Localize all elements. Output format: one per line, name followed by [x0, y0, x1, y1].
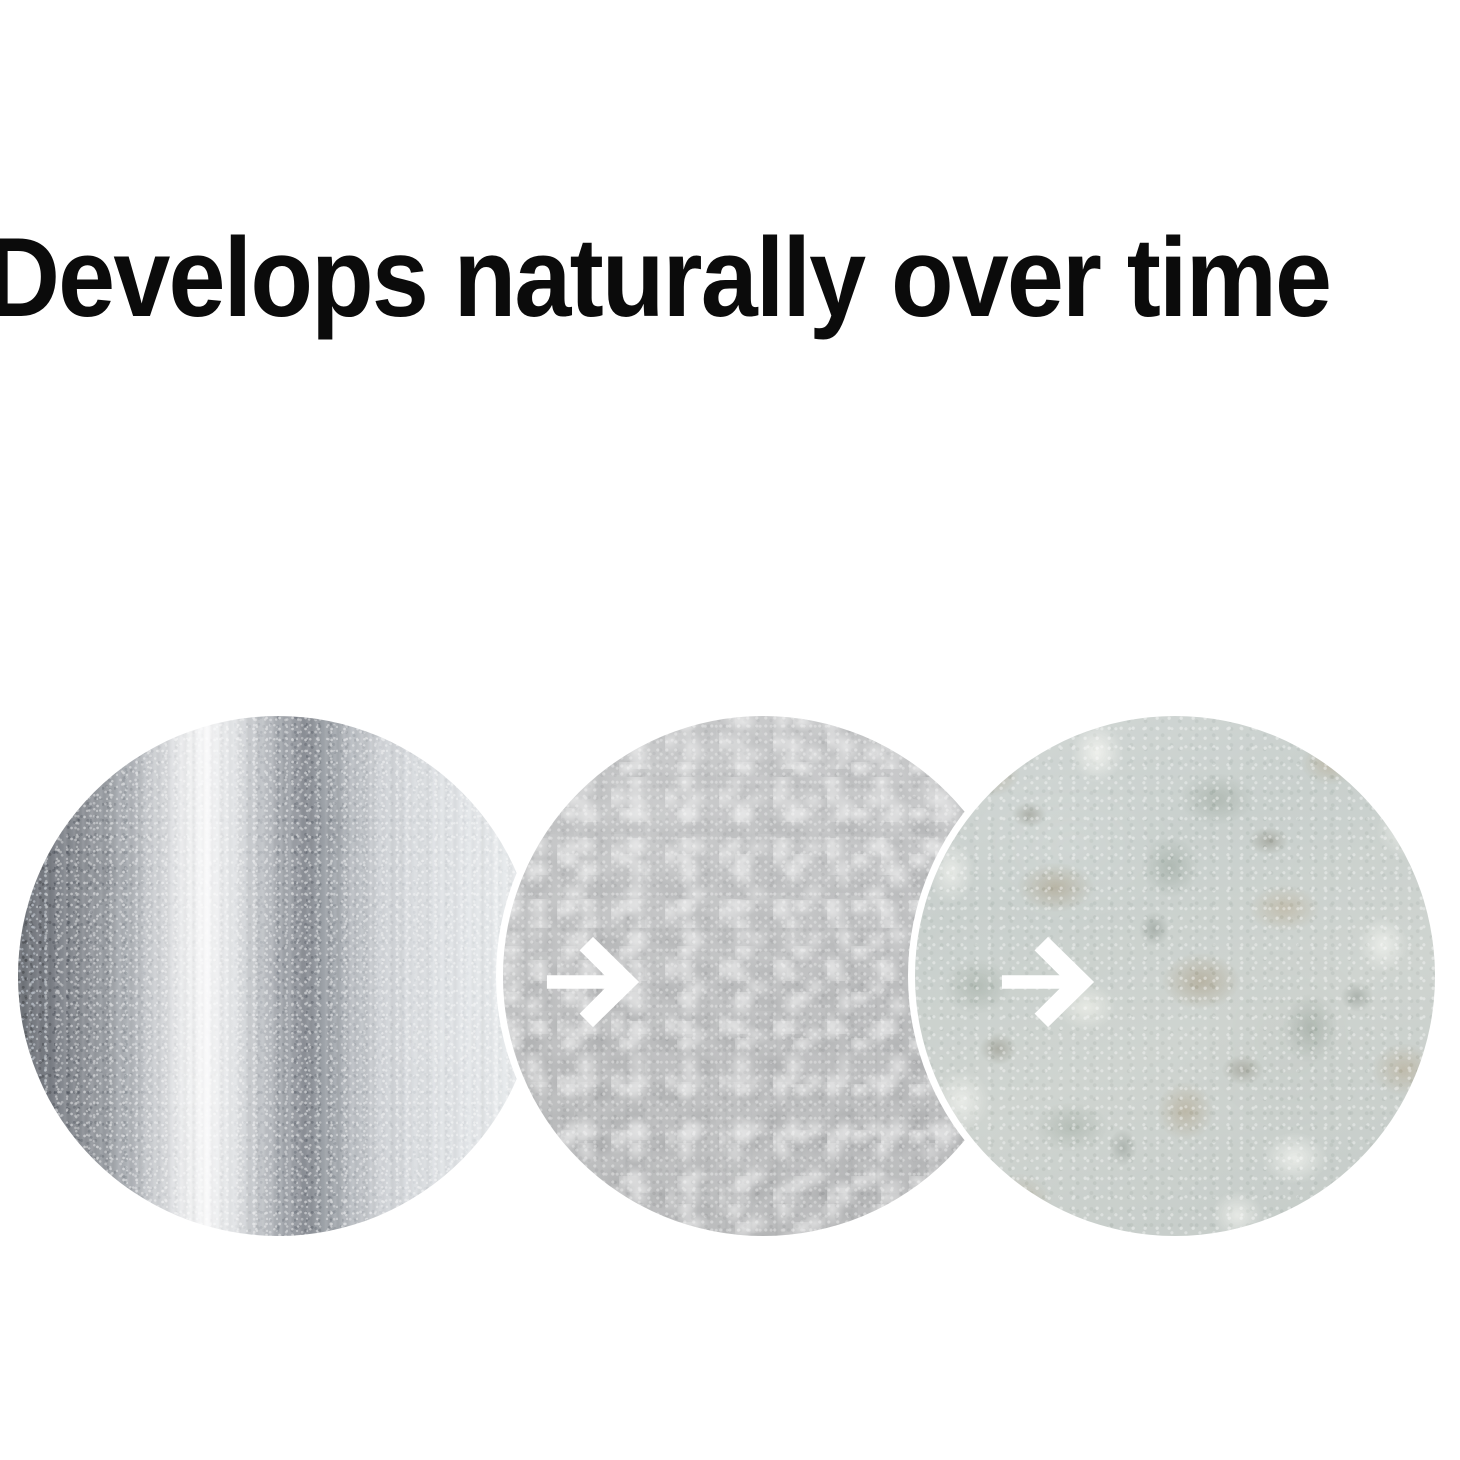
stage-1-circle-bright-galvanized-zinc — [18, 716, 538, 1236]
page-title-container: Develops naturally over time — [0, 218, 1460, 348]
zinc-grain-layer — [18, 716, 538, 1236]
page-title: Develops naturally over time — [0, 218, 1330, 338]
process-diagram — [0, 716, 1460, 1246]
patina-speck-layer — [915, 716, 1435, 1236]
stage-3-circle-patinated-zinc — [915, 716, 1435, 1236]
